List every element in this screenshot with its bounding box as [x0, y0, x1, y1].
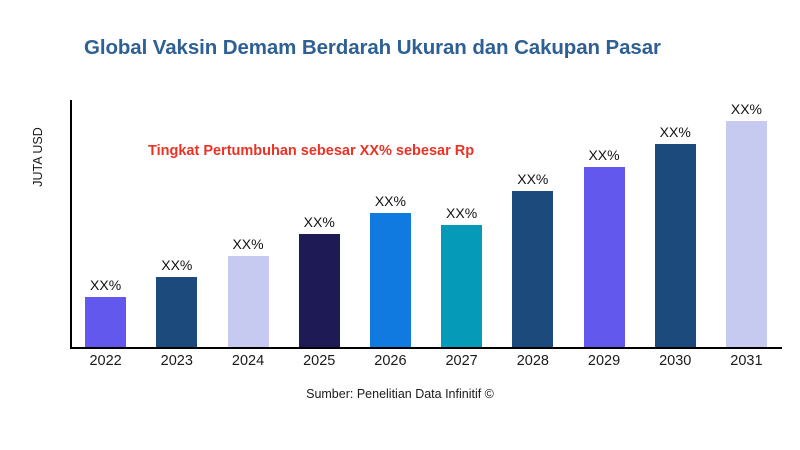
bar-value-label: XX%	[497, 171, 568, 187]
x-tick-2027: 2027	[426, 353, 497, 369]
bar-group: XX%	[568, 100, 639, 347]
plot-area: XX%XX%XX%XX%XX%XX%XX%XX%XX%XX%	[70, 100, 782, 349]
bar-group: XX%	[640, 100, 711, 347]
bar-2030[interactable]	[655, 144, 696, 347]
bar-2022[interactable]	[85, 297, 126, 347]
x-tick-2022: 2022	[70, 353, 141, 369]
y-axis-label: JUTA USD	[31, 87, 45, 227]
bar-value-label: XX%	[640, 124, 711, 140]
bar-value-label: XX%	[284, 214, 355, 230]
bar-group: XX%	[284, 100, 355, 347]
bar-group: XX%	[711, 100, 782, 347]
bar-2028[interactable]	[512, 191, 553, 347]
bar-2024[interactable]	[228, 256, 269, 347]
x-tick-2024: 2024	[212, 353, 283, 369]
bar-2029[interactable]	[584, 167, 625, 347]
bar-group: XX%	[212, 100, 283, 347]
x-tick-2028: 2028	[497, 353, 568, 369]
bar-2031[interactable]	[726, 121, 767, 347]
growth-rate-annotation: Tingkat Pertumbuhan sebesar XX% sebesar …	[148, 143, 474, 159]
bar-group: XX%	[426, 100, 497, 347]
bar-value-label: XX%	[70, 277, 141, 293]
bar-value-label: XX%	[426, 205, 497, 221]
bar-value-label: XX%	[212, 236, 283, 252]
bar-2023[interactable]	[156, 277, 197, 347]
bar-chart-figure: Global Vaksin Demam Berdarah Ukuran dan …	[0, 0, 800, 450]
source-note: Sumber: Penelitian Data Infinitif ©	[0, 387, 800, 401]
bar-group: XX%	[70, 100, 141, 347]
bar-2026[interactable]	[370, 213, 411, 347]
x-tick-2023: 2023	[141, 353, 212, 369]
x-tick-2030: 2030	[640, 353, 711, 369]
x-tick-2029: 2029	[568, 353, 639, 369]
bar-value-label: XX%	[568, 147, 639, 163]
bar-group: XX%	[497, 100, 568, 347]
bar-value-label: XX%	[355, 193, 426, 209]
x-axis-tick-labels: 2022202320242025202620272028202920302031	[70, 353, 782, 369]
page-title: Global Vaksin Demam Berdarah Ukuran dan …	[84, 36, 764, 60]
bar-2027[interactable]	[441, 225, 482, 347]
bar-series: XX%XX%XX%XX%XX%XX%XX%XX%XX%XX%	[70, 100, 782, 347]
x-tick-2026: 2026	[355, 353, 426, 369]
x-axis-line	[70, 347, 782, 349]
bar-2025[interactable]	[299, 234, 340, 347]
x-tick-2031: 2031	[711, 353, 782, 369]
bar-value-label: XX%	[141, 257, 212, 273]
bar-group: XX%	[141, 100, 212, 347]
bar-value-label: XX%	[711, 101, 782, 117]
bar-group: XX%	[355, 100, 426, 347]
x-tick-2025: 2025	[284, 353, 355, 369]
